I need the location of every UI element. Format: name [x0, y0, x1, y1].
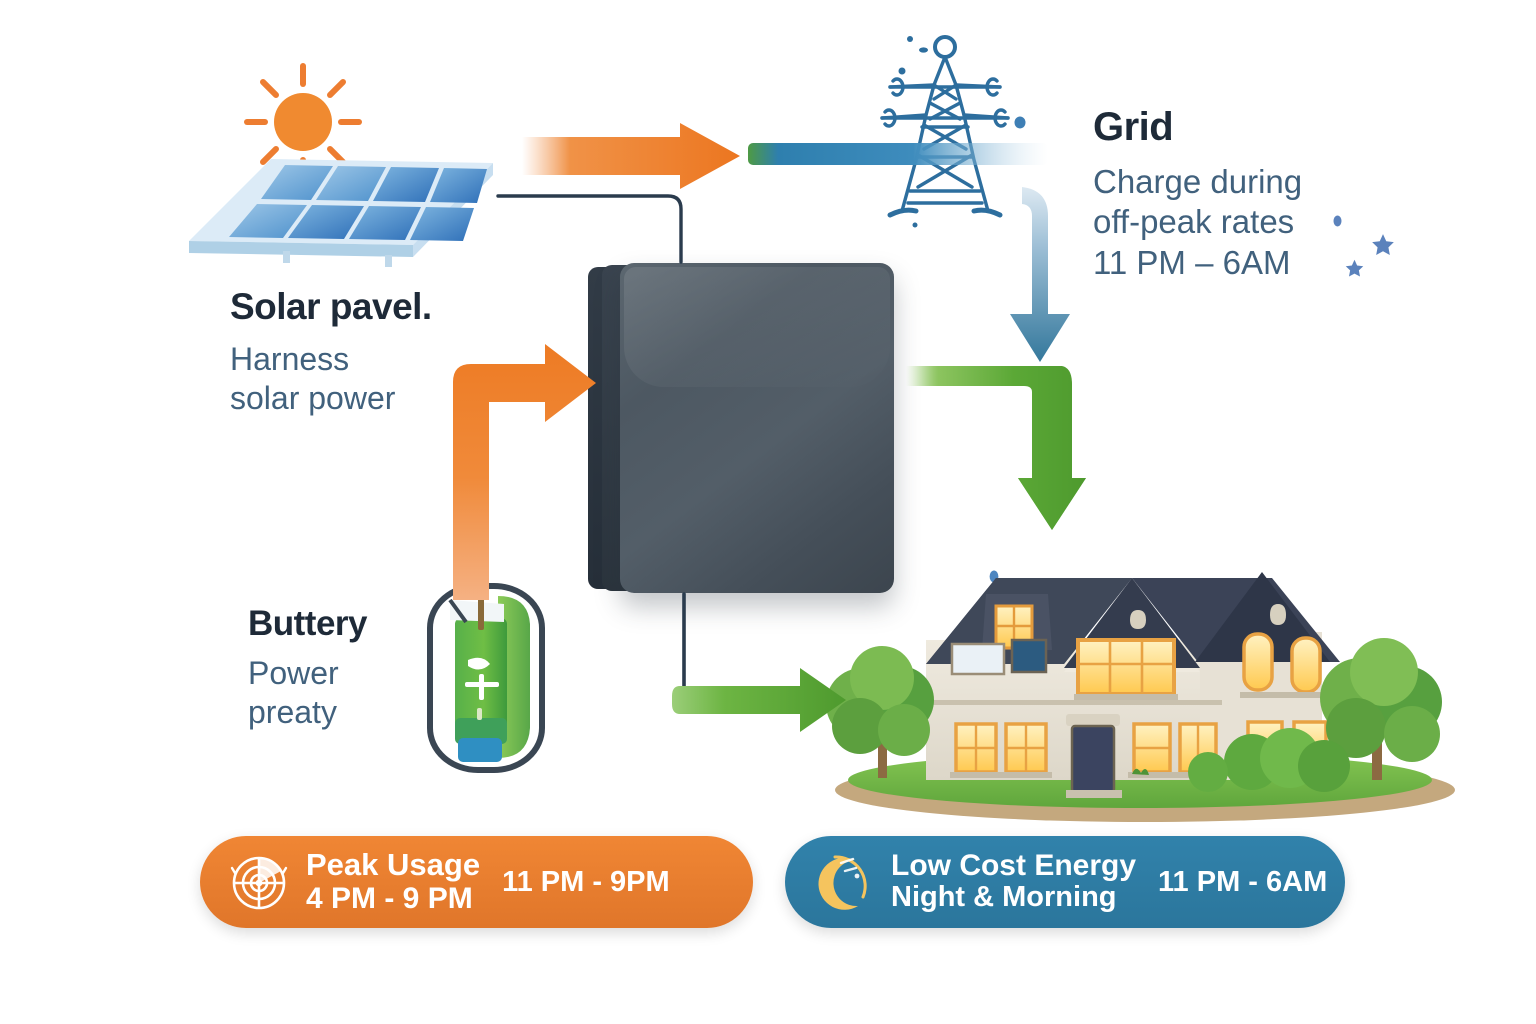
- unit-bottom-connector-line: [684, 594, 712, 698]
- battery-cell-icon: [420, 578, 555, 778]
- star-icon: [1344, 258, 1365, 284]
- house-icon: [800, 522, 1472, 822]
- battery-subtitle: Power preaty: [248, 654, 367, 732]
- infographic-canvas: Solar pavel. Harness solar power: [0, 0, 1536, 1024]
- crescent-moon-icon: [811, 849, 877, 915]
- low-cost-energy-time-label: 11 PM - 6AM: [1158, 866, 1327, 899]
- peak-usage-sub-label: 4 PM - 9 PM: [306, 882, 480, 915]
- low-cost-energy-pill[interactable]: Low Cost Energy Night & Morning 11 PM - …: [785, 836, 1345, 928]
- battery-title: Buttery: [248, 604, 367, 644]
- solar-to-grid-arrow: [522, 123, 740, 189]
- peak-usage-pill[interactable]: Peak Usage 4 PM - 9 PM 11 PM - 9PM: [200, 836, 753, 928]
- battery-to-unit-arrow: [453, 344, 596, 600]
- solar-panel-icon: [175, 145, 505, 275]
- solar-label-block: Solar pavel. Harness solar power: [230, 286, 432, 418]
- solar-title: Solar pavel.: [230, 286, 432, 328]
- dot-icon: [919, 40, 928, 58]
- dot-icon: [1333, 214, 1342, 232]
- peak-usage-main-label: Peak Usage: [306, 849, 480, 881]
- grid-label-block: Grid Charge during off-peak rates 11 PM …: [1093, 105, 1302, 283]
- solar-subtitle: Harness solar power: [230, 340, 432, 418]
- unit-to-home-arrow: [906, 366, 1086, 530]
- solar-connector-line: [498, 196, 681, 262]
- peak-usage-time-label: 11 PM - 9PM: [502, 866, 670, 899]
- star-icon: [1370, 232, 1396, 263]
- dot-icon: [1014, 116, 1026, 134]
- low-cost-energy-main-label: Low Cost Energy: [891, 850, 1136, 881]
- transmission-tower-icon: [860, 25, 1030, 255]
- radar-gauge-icon: [226, 849, 292, 915]
- grid-title: Grid: [1093, 105, 1302, 150]
- grid-subtitle: Charge during off-peak rates 11 PM – 6AM: [1093, 162, 1302, 283]
- low-cost-energy-sub-label: Night & Morning: [891, 882, 1136, 914]
- battery-label-block: Buttery Power preaty: [248, 604, 367, 732]
